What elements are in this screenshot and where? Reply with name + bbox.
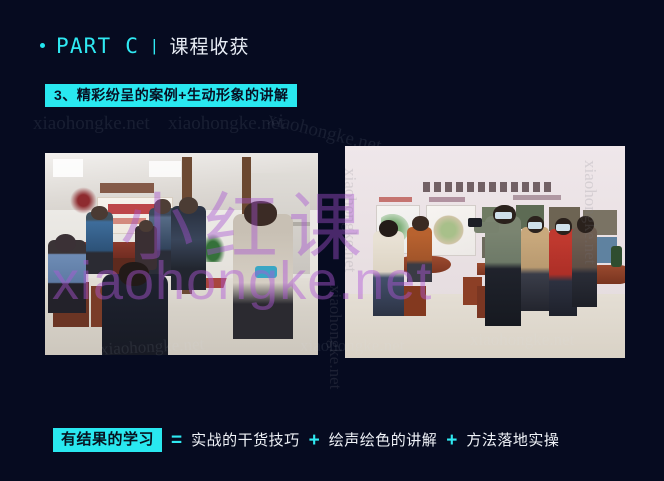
photo-person-head [139, 220, 153, 232]
photo-person [572, 227, 597, 308]
watermark-site: xiaohongke.net [325, 285, 345, 389]
photo-person [373, 231, 404, 316]
formula-result-chip: 有结果的学习 [53, 428, 162, 452]
photo-person-head [379, 220, 399, 237]
photo-person-head [91, 206, 107, 220]
part-label: PART C [56, 34, 139, 58]
title-separator: | [152, 36, 156, 56]
photo-face-mask [495, 212, 512, 219]
page-title: PART C | 课程收获 [40, 32, 250, 59]
photo-wall-decor [100, 183, 155, 193]
photo-right [345, 146, 625, 358]
photo-person [407, 227, 432, 282]
photo-light-panel [149, 161, 182, 177]
photo-camera-phone [468, 218, 482, 226]
photo-person-head [412, 216, 429, 231]
watermark-site: xiaohongke.net [168, 113, 285, 135]
photo-face-mask [528, 222, 542, 228]
photo-person-head [55, 234, 77, 252]
photo-person [86, 212, 113, 275]
photo-person-head [577, 216, 594, 233]
plus-icon: + [446, 431, 457, 450]
photo-plant [611, 246, 622, 267]
photo-person-head [119, 262, 149, 286]
photo-person [171, 206, 206, 291]
photo-face-mask [556, 224, 570, 230]
photo-person-head [244, 201, 277, 225]
photo-board-caption [513, 195, 561, 200]
photo-stool [404, 286, 426, 316]
plus-icon: + [309, 431, 320, 450]
photo-left [45, 153, 318, 355]
photo-person-bag [255, 266, 277, 278]
formula-term-1: 实战的干货技巧 [191, 433, 300, 448]
section-banner: 3、精彩纷呈的案例+生动形象的讲解 [45, 84, 297, 107]
page-title-cn: 课程收获 [169, 32, 249, 59]
photo-person-head [154, 199, 170, 213]
bullet-dot-icon [40, 43, 45, 48]
watermark-site: xiaohongke.net [33, 113, 150, 135]
value-formula-row: 有结果的学习 = 实战的干货技巧 + 绘声绘色的讲解 + 方法落地实操 [53, 428, 559, 452]
formula-term-3: 方法落地实操 [466, 433, 559, 448]
photo-map-graphic [432, 214, 466, 246]
photo-person-head [179, 197, 198, 213]
photo-light-panel [53, 159, 83, 177]
formula-term-2: 绘声绘色的讲解 [329, 433, 438, 448]
photo-person [102, 274, 168, 355]
slide-canvas: PART C | 课程收获 3、精彩纷呈的案例+生动形象的讲解 xiaohong… [0, 0, 664, 481]
photo-board-caption [429, 197, 465, 202]
photo-wall-slogan [423, 182, 552, 192]
photo-person [521, 227, 549, 312]
formula-equals-icon: = [171, 431, 182, 450]
photo-board-caption [379, 197, 413, 202]
